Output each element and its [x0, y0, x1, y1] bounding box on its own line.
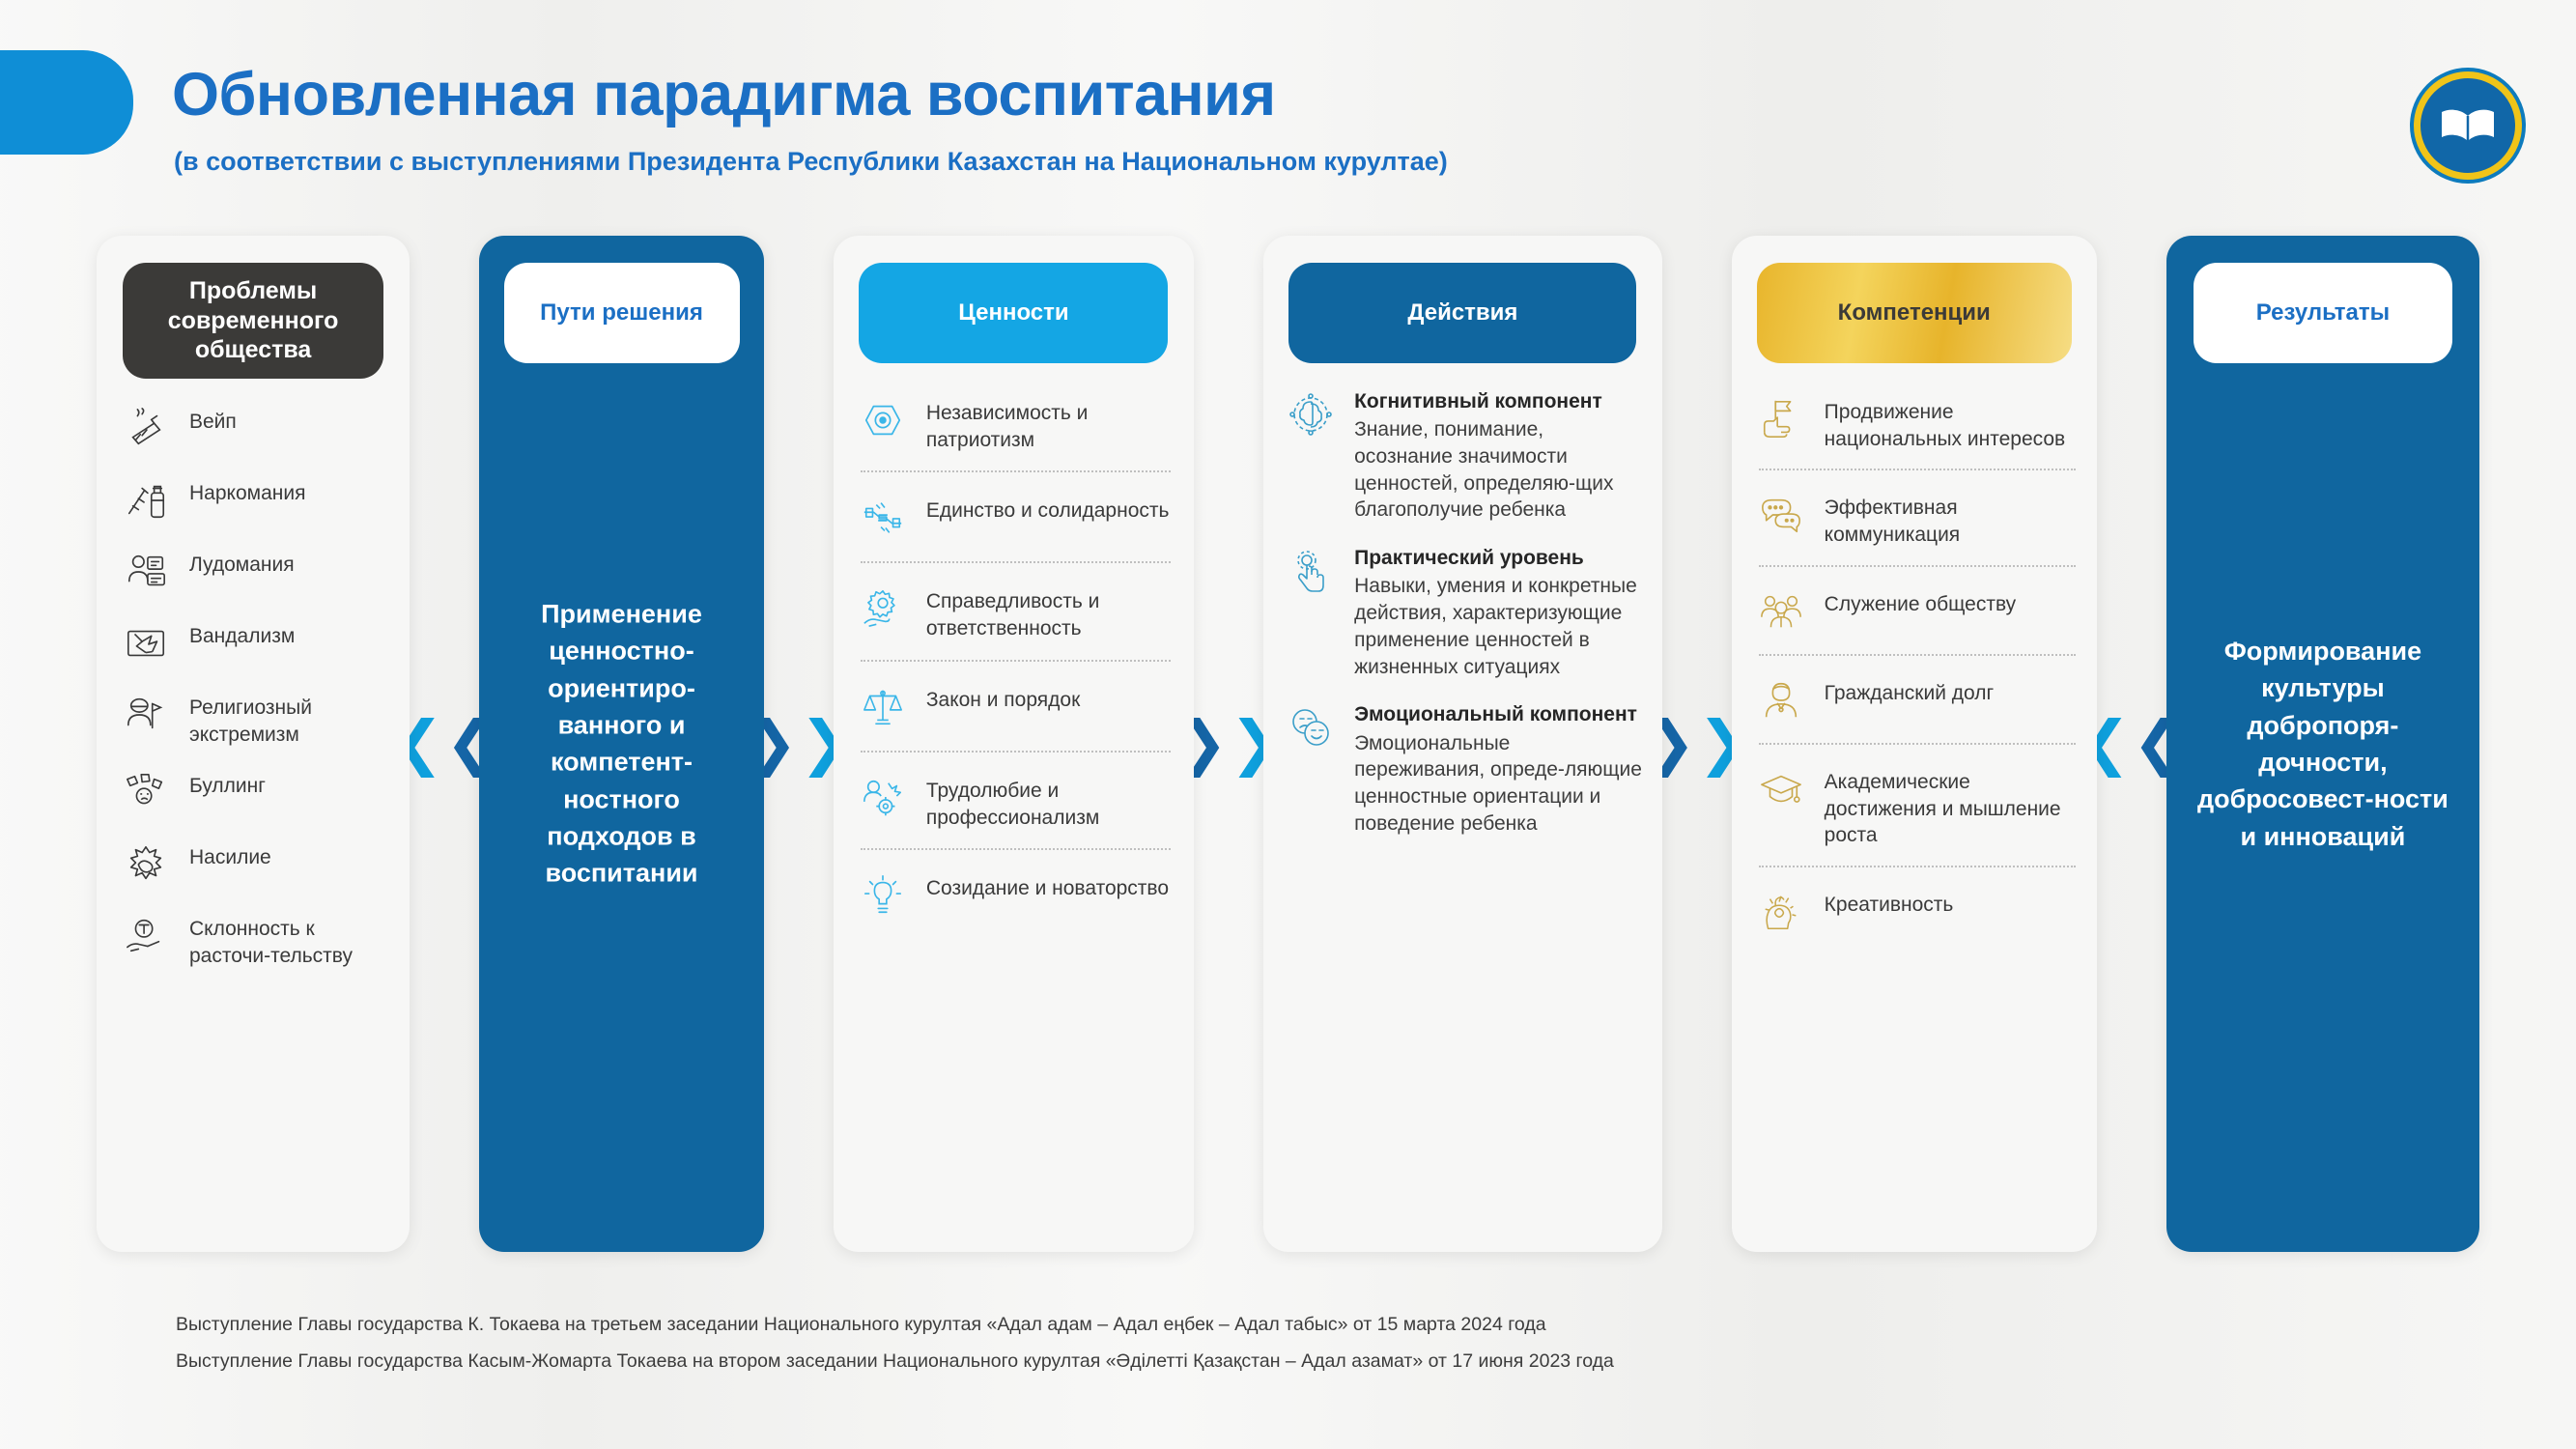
list-divider: [861, 848, 1171, 850]
list-item[interactable]: Закон и порядок: [857, 664, 1175, 749]
list-item-label: Гражданский долг: [1825, 672, 1995, 707]
gambling-icon: [120, 546, 172, 598]
list-item-label: Наркомания: [189, 472, 305, 507]
list-item[interactable]: Креативность: [1755, 869, 2080, 952]
list-item-label: Справедливость и ответственность: [926, 581, 1175, 641]
list-item-label: Единство и солидарность: [926, 490, 1170, 525]
column-values: Ценности Независимость и патриотизм: [834, 236, 1194, 1252]
column-actions: Действия Когнитивный компонент Знание, п…: [1263, 236, 1662, 1252]
column-problems: Проблемы современного общества Вейп: [97, 236, 410, 1252]
list-divider: [861, 751, 1171, 753]
values-list: Независимость и патриотизм Единство и со…: [834, 363, 1194, 937]
connector-3: ❯❯: [1194, 236, 1263, 1252]
list-divider: [1759, 743, 2076, 745]
list-item-label: Вандализм: [189, 615, 295, 650]
emotion-faces-icon: [1285, 701, 1337, 753]
list-item-label: Склонность к расточи-тельству: [189, 908, 390, 969]
list-item-label: Религиозный экстремизм: [189, 687, 390, 748]
list-item-title: Когнитивный компонент: [1354, 388, 1645, 414]
page-title: Обновленная парадигма воспитания: [172, 60, 1276, 129]
page-header: Обновленная парадигма воспитания (в соот…: [0, 0, 2576, 222]
list-divider: [1759, 565, 2076, 567]
list-item[interactable]: Продвижение национальных интересов: [1755, 377, 2080, 467]
footnote-line: Выступление Главы государства К. Токаева…: [176, 1306, 1614, 1343]
column-results-header: Результаты: [2194, 263, 2452, 363]
broken-window-icon: [120, 617, 172, 669]
connector-4: ❯❯: [1662, 236, 1732, 1252]
list-item[interactable]: Созидание и новаторство: [857, 852, 1175, 937]
list-item-body: Эмоциональные переживания, опреде-ляющие…: [1354, 730, 1645, 838]
list-item[interactable]: Гражданский долг: [1755, 658, 2080, 741]
column-solutions-header: Пути решения: [504, 263, 740, 363]
list-item[interactable]: Эмоциональный компонент Эмоциональные пе…: [1285, 690, 1645, 846]
paradigm-board: Проблемы современного общества Вейп: [0, 236, 2576, 1279]
list-item-label: Закон и порядок: [926, 679, 1080, 714]
vape-icon: [120, 403, 172, 455]
list-item[interactable]: Вандализм: [120, 607, 390, 678]
list-item[interactable]: Трудолюбие и профессионализм: [857, 754, 1175, 846]
list-item-label: Лудомания: [189, 544, 295, 579]
graduation-cap-icon: [1755, 763, 1807, 815]
column-competencies: Компетенции Продвижение национальных инт…: [1732, 236, 2097, 1252]
list-item-label: Насилие: [189, 837, 271, 871]
shield-eye-icon: [857, 394, 909, 446]
violence-fist-icon: [120, 838, 172, 891]
hand-tap-icon: [1285, 545, 1337, 597]
lightbulb-icon: [857, 869, 909, 922]
column-problems-header: Проблемы современного общества: [123, 263, 383, 379]
speech-bubbles-icon: [1755, 489, 1807, 541]
scales-icon: [857, 681, 909, 733]
unity-hands-icon: [857, 492, 909, 544]
hand-gear-icon: [857, 582, 909, 635]
column-values-header: Ценности: [859, 263, 1168, 363]
list-item-title: Эмоциональный компонент: [1354, 701, 1645, 727]
bullying-icon: [120, 767, 172, 819]
header-accent-tab: [0, 50, 133, 155]
list-item[interactable]: Наркомания: [120, 464, 390, 535]
footnotes: Выступление Главы государства К. Токаева…: [176, 1306, 1614, 1379]
list-item-label: Продвижение национальных интересов: [1825, 391, 2080, 452]
list-item-title: Практический уровень: [1354, 545, 1645, 571]
connector-2: ❯❯: [764, 236, 834, 1252]
list-item-body: Навыки, умения и конкретные действия, ха…: [1354, 573, 1645, 680]
list-item[interactable]: Практический уровень Навыки, умения и ко…: [1285, 533, 1645, 690]
results-statement: Формирование культуры добропоря-дочности…: [2166, 633, 2479, 855]
list-item-label: Служение обществу: [1825, 583, 2016, 618]
list-item-label: Независимость и патриотизм: [926, 392, 1175, 453]
list-item[interactable]: Единство и солидарность: [857, 474, 1175, 559]
competencies-list: Продвижение национальных интересов Эффе: [1732, 363, 2097, 952]
list-item[interactable]: Эффективная коммуникация: [1755, 472, 2080, 562]
book-emblem-logo: [2414, 71, 2522, 180]
list-item-label: Трудолюбие и профессионализм: [926, 770, 1175, 831]
footnote-line: Выступление Главы государства Касым-Жома…: [176, 1343, 1614, 1379]
list-divider: [861, 660, 1171, 662]
connector-5: ❮❮: [2097, 236, 2166, 1252]
list-item[interactable]: Служение обществу: [1755, 569, 2080, 652]
list-item[interactable]: Независимость и патриотизм: [857, 377, 1175, 469]
list-item[interactable]: Лудомания: [120, 535, 390, 607]
citizen-person-icon: [1755, 674, 1807, 726]
list-item[interactable]: Склонность к расточи-тельству: [120, 899, 390, 978]
list-divider: [861, 561, 1171, 563]
list-item-body: Знание, понимание, осознание значимости …: [1354, 416, 1645, 524]
tenge-spending-icon: [120, 910, 172, 962]
list-item-label: Вейп: [189, 401, 237, 436]
list-divider: [1759, 654, 2076, 656]
list-item[interactable]: Буллинг: [120, 756, 390, 828]
brain-circuit-icon: [1285, 388, 1337, 440]
column-results: Результаты Формирование культуры добропо…: [2166, 236, 2479, 1252]
list-item-label: Буллинг: [189, 765, 266, 800]
list-item[interactable]: Справедливость и ответственность: [857, 565, 1175, 657]
list-item[interactable]: Религиозный экстремизм: [120, 678, 390, 756]
list-divider: [1759, 469, 2076, 470]
syringe-bottle-icon: [120, 474, 172, 526]
actions-list: Когнитивный компонент Знание, понимание,…: [1263, 363, 1662, 847]
list-item-label: Академические достижения и мышление рост…: [1825, 761, 2080, 849]
people-group-icon: [1755, 585, 1807, 638]
problems-list: Вейп Наркомания: [97, 379, 410, 979]
list-divider: [1759, 866, 2076, 867]
creative-head-icon: [1755, 886, 1807, 938]
page-subtitle: (в соответствии с выступлениями Президен…: [174, 147, 1448, 177]
list-item[interactable]: Когнитивный компонент Знание, понимание,…: [1285, 377, 1645, 533]
connector-1: ❮❮: [410, 236, 479, 1252]
list-item[interactable]: Вейп: [120, 392, 390, 464]
column-competencies-header: Компетенции: [1757, 263, 2072, 363]
solutions-statement: Применение ценностно-ориентиро-ванного и…: [479, 596, 764, 893]
list-item[interactable]: Академические достижения и мышление рост…: [1755, 747, 2080, 864]
extremism-icon: [120, 689, 172, 741]
hand-flag-icon: [1755, 393, 1807, 445]
list-item[interactable]: Насилие: [120, 828, 390, 899]
column-solutions: Пути решения Применение ценностно-ориент…: [479, 236, 764, 1252]
list-item-label: Созидание и новаторство: [926, 867, 1169, 902]
worker-gear-icon: [857, 772, 909, 824]
column-actions-header: Действия: [1288, 263, 1636, 363]
list-item-label: Эффективная коммуникация: [1825, 487, 2080, 548]
list-item-label: Креативность: [1825, 884, 1954, 919]
list-divider: [861, 470, 1171, 472]
